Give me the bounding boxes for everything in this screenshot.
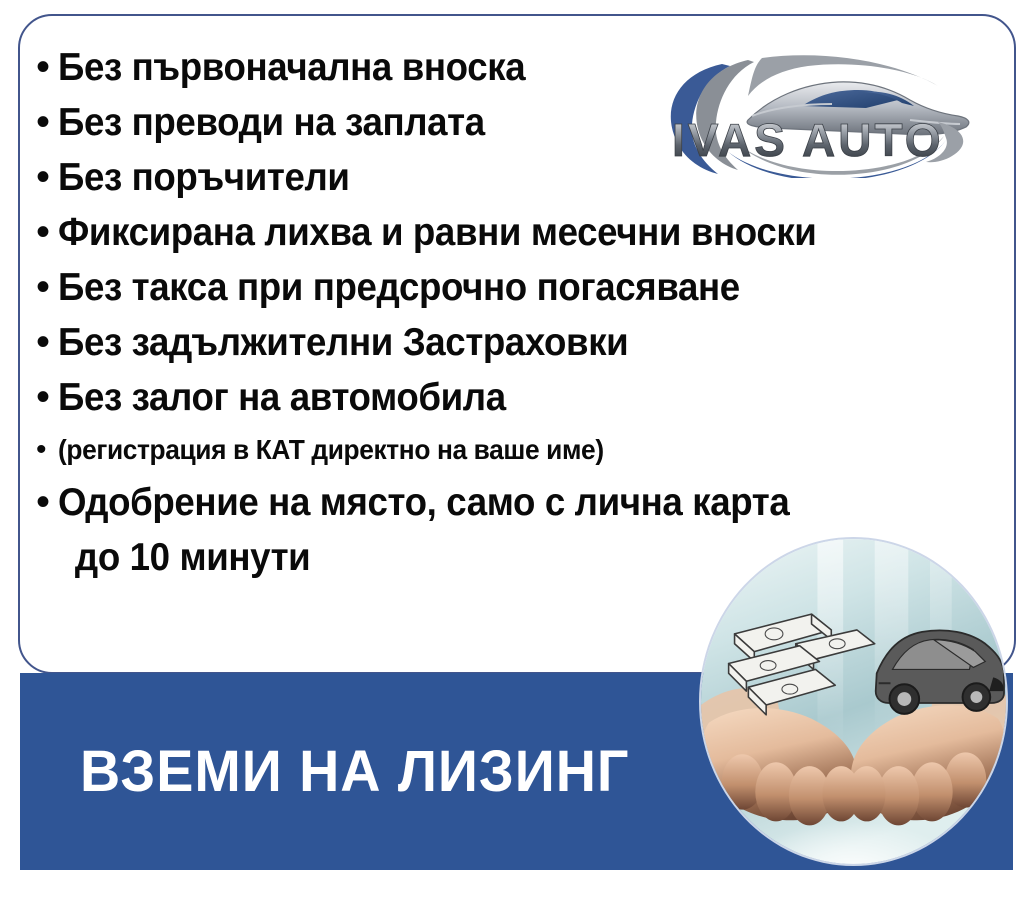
list-item-label: Без такса при предсрочно погасяване (58, 260, 740, 315)
list-item-label-line1: Одобрение на място, само с лична карта (58, 481, 789, 524)
list-item-label: Фиксирана лихва и равни месечни вноски (58, 205, 816, 260)
list-item-label: Без задължителни Застраховки (58, 315, 628, 370)
bullet-marker-icon: • (36, 205, 58, 260)
logo-wordmark: IVAS AUTO (672, 114, 944, 166)
bullet-marker-icon: • (36, 95, 58, 150)
list-item-note: • (регистрация в КАТ директно на ваше им… (36, 425, 696, 475)
list-item-label: Без поръчители (58, 150, 350, 205)
ivas-auto-logo: IVAS AUTO (652, 48, 982, 178)
list-item: • Одобрение на място, само с лична карта… (36, 475, 696, 585)
list-item-label: Без залог на автомобила (58, 370, 506, 425)
bullet-marker-icon: • (36, 150, 58, 205)
list-item-label: Без преводи на заплата (58, 95, 485, 150)
list-item: • Без такса при предсрочно погасяване (36, 260, 696, 315)
list-item: • Без задължителни Застраховки (36, 315, 696, 370)
list-item: • Без преводи на заплата (36, 95, 696, 150)
list-item: • Без първоначална вноска (36, 40, 696, 95)
poster-canvas: ВЗЕМИ НА ЛИЗИНГ (0, 0, 1033, 902)
bullet-marker-icon: • (36, 425, 58, 475)
bullet-marker-icon: • (36, 475, 58, 530)
hands-holding-money-and-car-photo (699, 537, 1008, 866)
list-item-note-label: (регистрация в КАТ директно на ваше име) (58, 425, 604, 475)
benefits-list: • Без първоначална вноска • Без преводи … (36, 40, 696, 585)
list-item: • Без поръчители (36, 150, 696, 205)
cta-label: ВЗЕМИ НА ЛИЗИНГ (80, 743, 629, 801)
bullet-marker-icon: • (36, 260, 58, 315)
bullet-marker-icon: • (36, 370, 58, 425)
list-item-label: Без първоначална вноска (58, 40, 525, 95)
list-item: • Фиксирана лихва и равни месечни вноски (36, 205, 696, 260)
list-item: • Без залог на автомобила (36, 370, 696, 425)
bullet-marker-icon: • (36, 315, 58, 370)
bullet-marker-icon: • (36, 40, 58, 95)
